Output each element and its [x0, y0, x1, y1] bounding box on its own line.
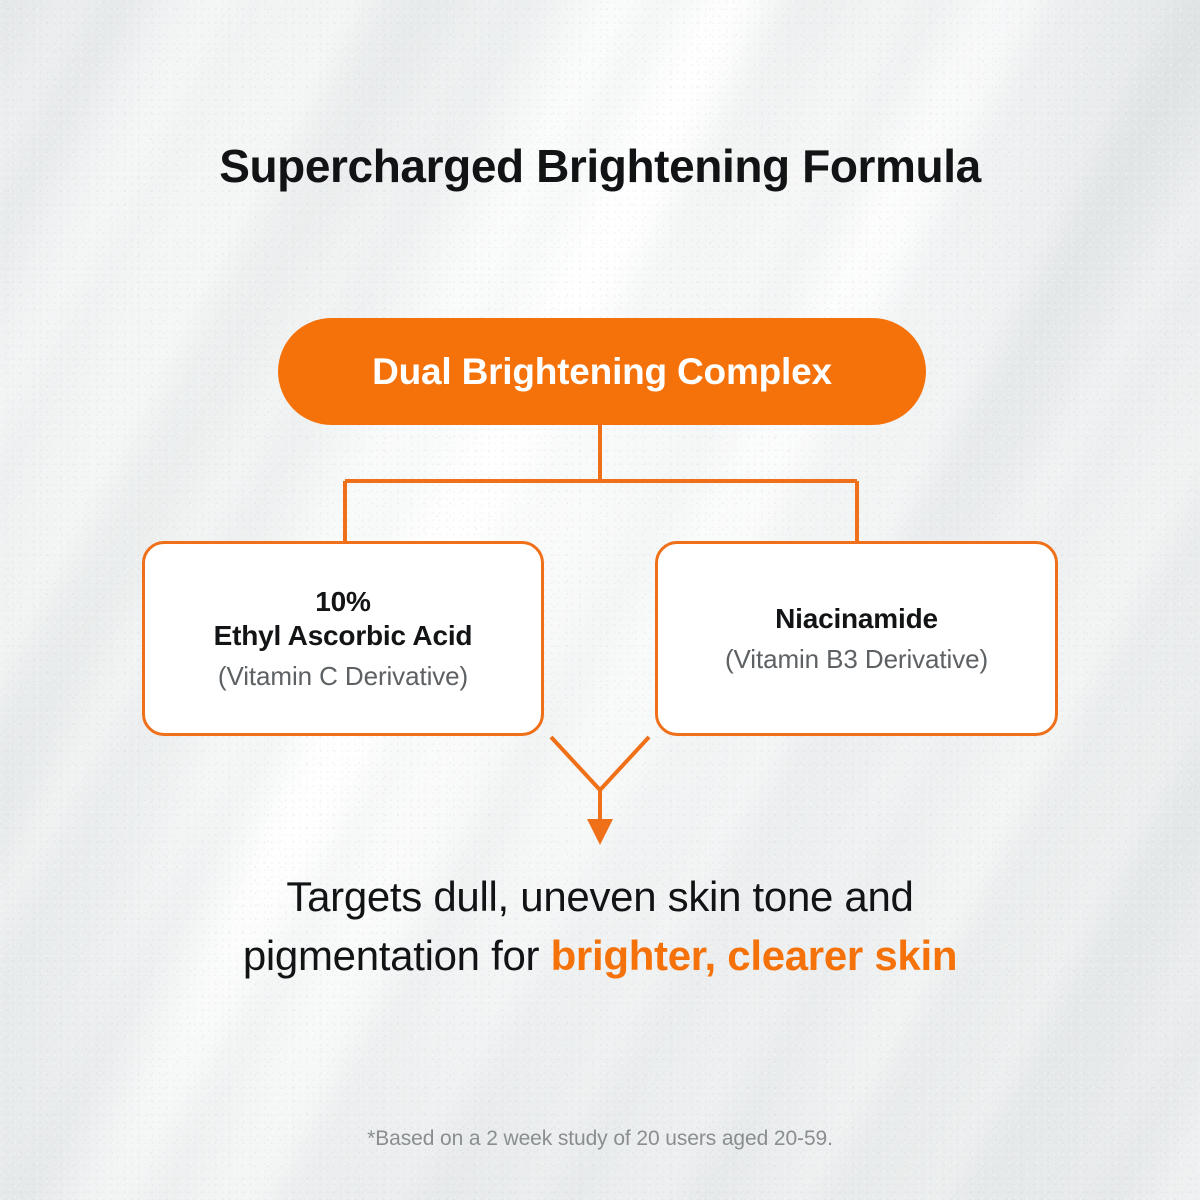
branch-card-niacinamide[interactable]: Niacinamide (Vitamin B3 Derivative) [655, 541, 1058, 736]
footnote-disclaimer: *Based on a 2 week study of 20 users age… [0, 1127, 1200, 1151]
branch-card-ethyl-ascorbic-acid[interactable]: 10% Ethyl Ascorbic Acid (Vitamin C Deriv… [142, 541, 544, 736]
branch-card-title: Niacinamide [775, 602, 938, 636]
content-layer: Supercharged Brightening Formula Dual [0, 0, 1200, 1200]
branch-card-subtitle: (Vitamin C Derivative) [218, 661, 468, 692]
infographic-canvas: Supercharged Brightening Formula Dual [0, 0, 1200, 1200]
tagline: Targets dull, uneven skin tone and pigme… [110, 868, 1090, 986]
branch-card-subtitle: (Vitamin B3 Derivative) [725, 644, 988, 675]
branch-card-title-line2: Ethyl Ascorbic Acid [214, 620, 473, 651]
connector-converge-left [551, 737, 600, 790]
branch-card-title-line1: Niacinamide [775, 603, 938, 634]
arrow-down-icon [587, 819, 613, 845]
connector-converge-right [600, 737, 649, 790]
tagline-highlight: brighter, clearer skin [551, 932, 958, 979]
branch-card-title: 10% Ethyl Ascorbic Acid [214, 585, 473, 653]
tagline-line-2-plain: pigmentation for [243, 932, 551, 979]
tagline-line-1: Targets dull, uneven skin tone and [286, 873, 913, 920]
root-node-label: Dual Brightening Complex [372, 351, 832, 393]
branch-card-title-line1: 10% [315, 586, 370, 617]
root-node-dual-brightening-complex[interactable]: Dual Brightening Complex [278, 318, 926, 425]
